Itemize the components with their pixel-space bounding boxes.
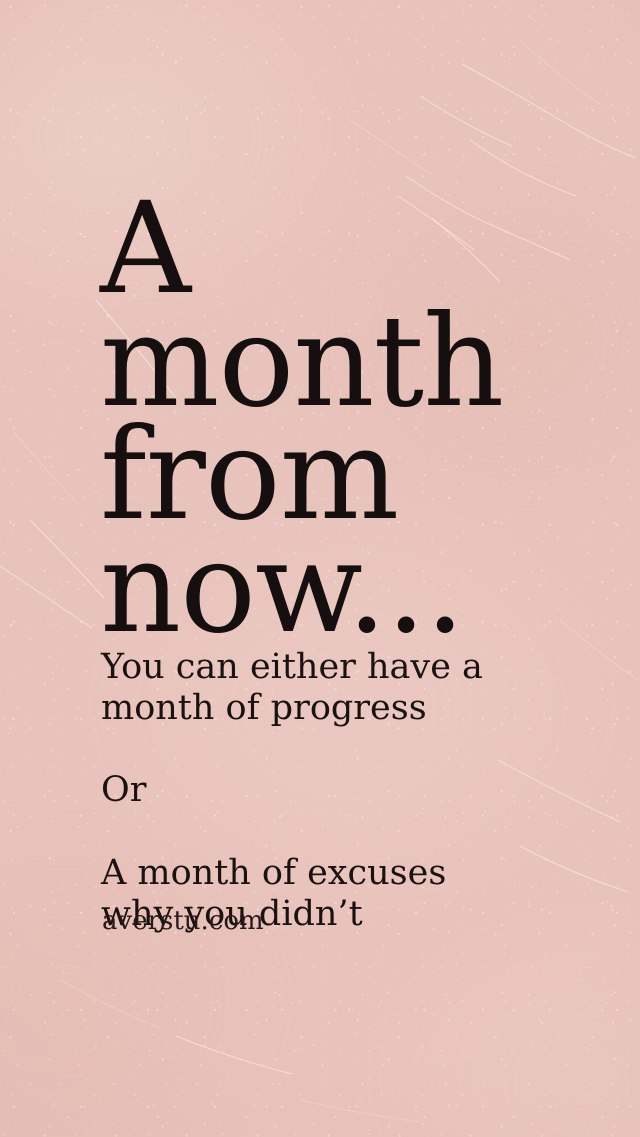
quote-poster: A month from now... You can either have … <box>0 0 640 1137</box>
body-paragraph-or: Or <box>101 770 146 811</box>
page-title: A month from now... <box>100 192 503 644</box>
body-line-or-1: Or <box>101 770 146 811</box>
headline-line-4: now... <box>100 531 503 644</box>
body-paragraph-progress: You can either have a month of progress <box>101 647 483 729</box>
body-line-progress-2: month of progress <box>101 688 483 729</box>
body-line-excuses-1: A month of excuses <box>101 853 446 894</box>
watermark-attribution: averstu.com <box>102 905 264 937</box>
body-line-progress-1: You can either have a <box>101 647 483 688</box>
